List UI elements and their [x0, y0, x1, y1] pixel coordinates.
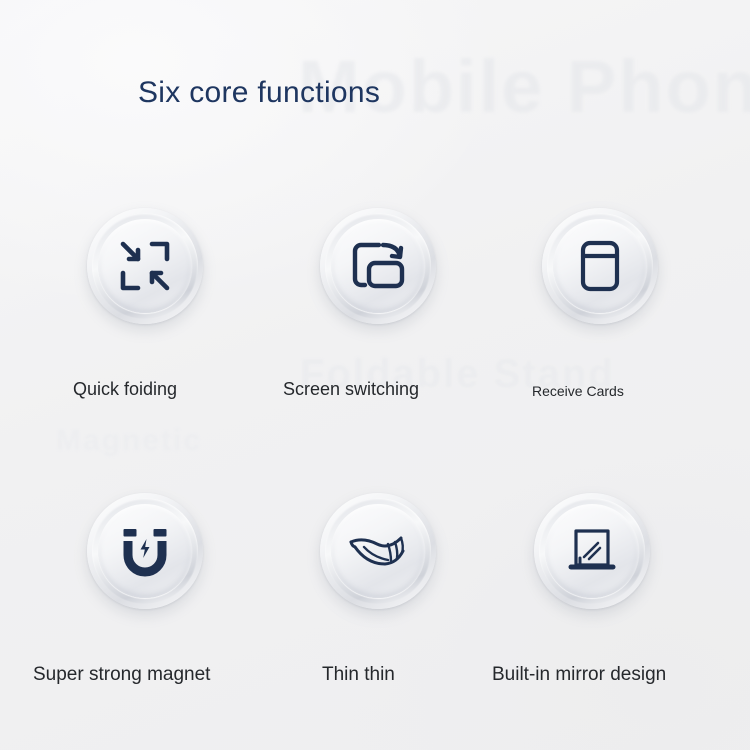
feather-icon	[320, 493, 436, 609]
card-slot-icon	[542, 208, 658, 324]
icon-disc	[87, 208, 203, 324]
icon-disc	[320, 493, 436, 609]
feature-item-super-strong-magnet[interactable]	[87, 493, 203, 609]
collapse-arrows-icon	[87, 208, 203, 324]
standing-mirror-icon	[534, 493, 650, 609]
feature-label-screen-switching: Screen switching	[283, 379, 419, 400]
feature-item-screen-switching[interactable]	[320, 208, 436, 324]
feature-item-receive-cards[interactable]	[542, 208, 658, 324]
background-watermark-tertiary: Magnetic	[56, 424, 202, 458]
icon-disc	[542, 208, 658, 324]
screen-rotate-icon	[320, 208, 436, 324]
icon-disc	[320, 208, 436, 324]
feature-item-quick-folding[interactable]	[87, 208, 203, 324]
icon-disc	[534, 493, 650, 609]
feature-label-built-in-mirror: Built-in mirror design	[492, 664, 666, 686]
feature-label-super-strong-magnet: Super strong magnet	[33, 664, 210, 686]
feature-label-thin-thin: Thin thin	[322, 664, 395, 686]
horseshoe-magnet-icon	[87, 493, 203, 609]
page-title: Six core functions	[138, 76, 380, 110]
feature-showcase-page: Mobile Phone Holder Foldable Stand Magne…	[0, 0, 750, 750]
feature-item-built-in-mirror[interactable]	[534, 493, 650, 609]
feature-label-receive-cards: Receive Cards	[532, 383, 624, 399]
icon-disc	[87, 493, 203, 609]
feature-item-thin-thin[interactable]	[320, 493, 436, 609]
feature-label-quick-folding: Quick foiding	[73, 379, 177, 400]
